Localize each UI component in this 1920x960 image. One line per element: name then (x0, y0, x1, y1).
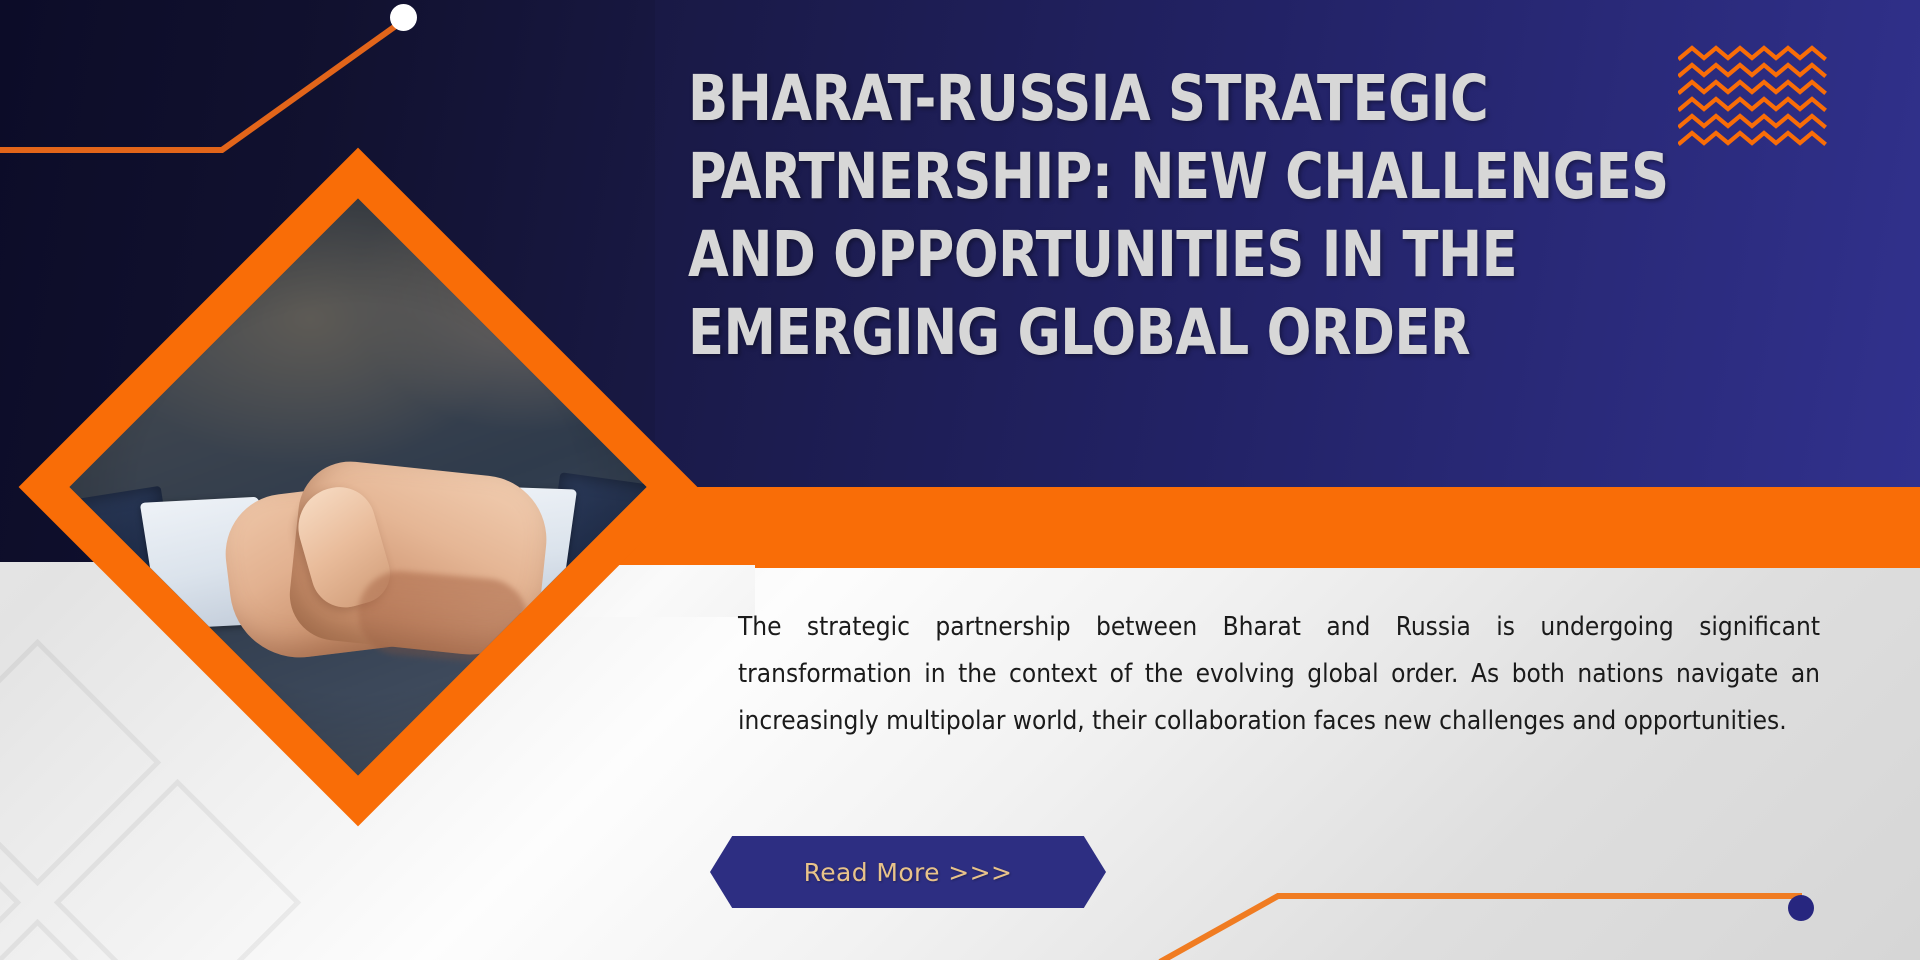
banner-root: BHARAT-RUSSIA STRATEGIC PARTNERSHIP: NEW… (0, 0, 1920, 960)
page-title: BHARAT-RUSSIA STRATEGIC PARTNERSHIP: NEW… (688, 60, 1753, 372)
body-paragraph: The strategic partnership between Bharat… (738, 604, 1820, 745)
white-dot-decoration (390, 4, 417, 31)
navy-dot-decoration (1788, 895, 1814, 921)
read-more-button[interactable]: Read More >>> (710, 836, 1106, 908)
read-more-label: Read More >>> (804, 858, 1013, 887)
orange-divider-band (655, 487, 1920, 568)
